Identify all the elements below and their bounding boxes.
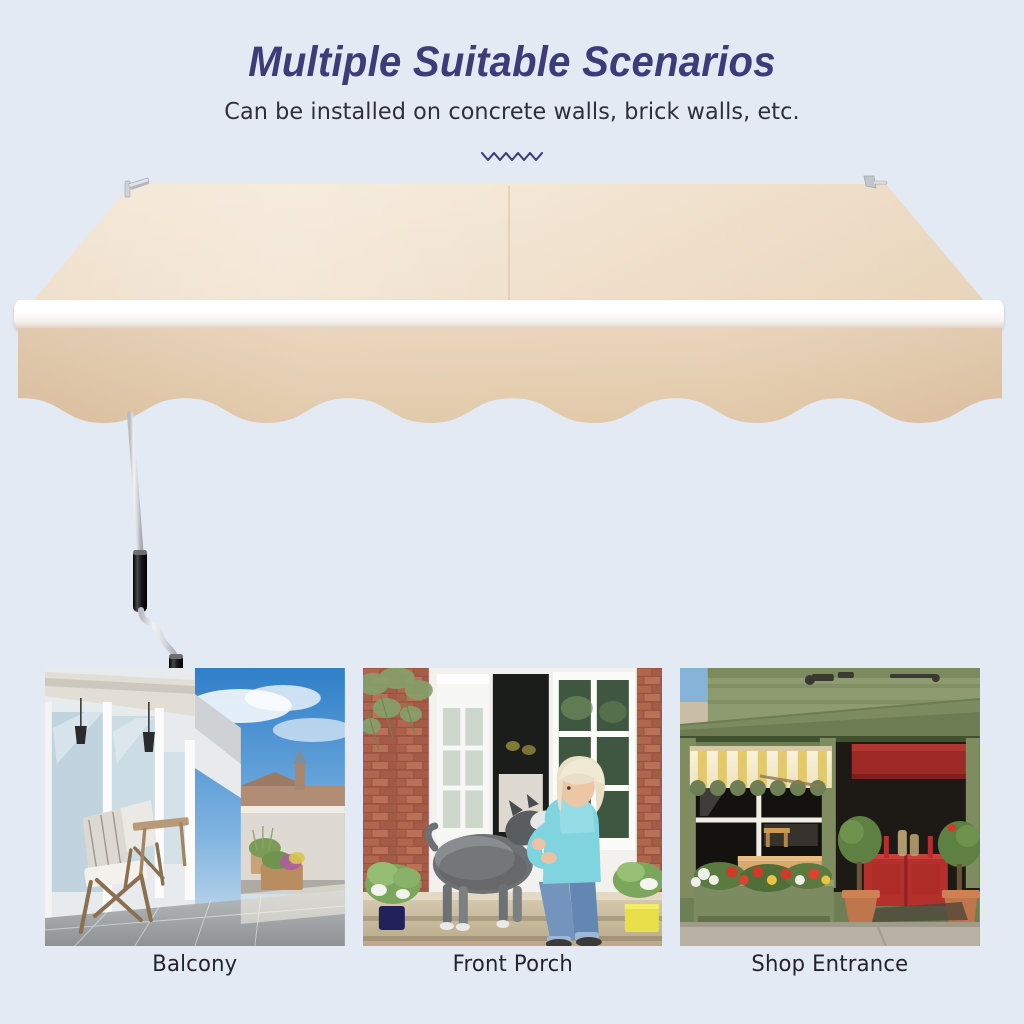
page-subtitle: Can be installed on concrete walls, bric… [15,99,1008,125]
page-title: Multiple Suitable Scenarios [36,38,988,87]
zigzag-divider-icon [0,147,1024,165]
roller-bar-highlight [20,304,998,313]
scenario-gallery [45,668,980,946]
gallery-photo-balcony[interactable] [45,668,345,946]
caption-balcony: Balcony [51,952,339,992]
gallery-photo-front-porch[interactable] [363,668,663,946]
header: Multiple Suitable Scenarios Can be insta… [0,0,1024,165]
wall-mount-bracket-right [862,174,888,196]
wall-mount-bracket-left [124,176,150,198]
gallery-photo-shop-entrance[interactable] [680,668,980,946]
caption-shop-entrance: Shop Entrance [686,952,974,992]
caption-front-porch: Front Porch [369,952,657,992]
product-image-awning [0,170,1024,470]
gallery-captions: Balcony Front Porch Shop Entrance [45,952,980,992]
scalloped-valance [18,328,1002,423]
product-marketing-page: Multiple Suitable Scenarios Can be insta… [0,0,1024,1024]
